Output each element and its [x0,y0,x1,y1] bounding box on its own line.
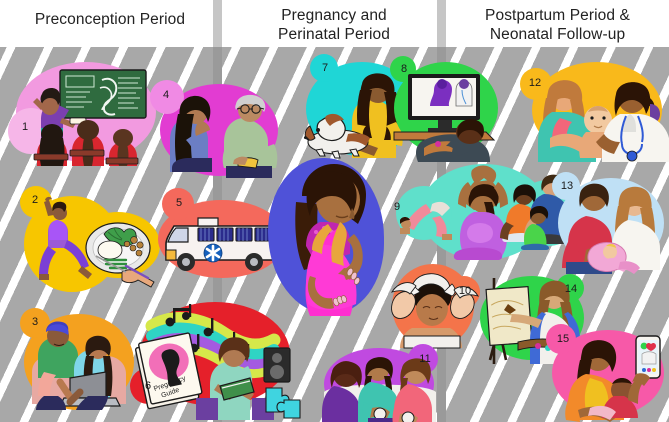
panel-13-parents-with-newborn: 13 [552,172,669,272]
panel-8-number: 8 [395,60,413,78]
panel-7-number: 7 [316,59,334,77]
panel-13-illustration [560,178,664,270]
column-title-postpartum-line-2: Neonatal Follow-up [446,25,669,44]
panel-6-illustration: Pregnancy Guide [134,300,302,420]
panel-11-number: 11 [414,350,436,368]
panel-14-number: 14 [560,280,582,298]
center-illustration [266,156,388,316]
center-pregnant-woman [258,152,394,318]
panel-12-illustration [530,68,669,162]
column-title-preconception: Preconception Period [0,10,220,29]
panel-3-couple-with-laptop: 3 [14,304,140,414]
panel-15-number: 15 [552,330,574,348]
panel-6-number: 6 [139,377,157,395]
panel-3-number: 3 [26,313,44,331]
column-title-pregnancy: Pregnancy and Perinatal Period [222,6,446,44]
column-title-pregnancy-line-2: Perinatal Period [222,25,446,44]
panel-3-illustration [26,316,134,410]
panel-2-illustration [26,196,154,294]
panel-1-illustration [22,62,158,166]
panel-1-health-education-classroom: 1 [8,56,158,166]
column-title-postpartum: Postpartum Period & Neonatal Follow-up [446,6,669,44]
panel-8-illustration [394,70,506,162]
panel-2-exercise-and-nutrition: 2 [8,182,158,294]
panel-8-telemedicine-consult: 8 [388,54,506,162]
panel-12-newborn-checkup: 12 [516,56,668,164]
column-title-pregnancy-line-1: Pregnancy and [222,6,446,25]
column-title-postpartum-line-1: Postpartum Period & [446,6,669,25]
panel-12-number: 12 [524,74,546,92]
panel-10-illustration [392,266,478,348]
panel-11-peer-support-group: 11 [322,340,446,422]
panel-5-number: 5 [170,194,188,212]
panel-13-number: 13 [556,177,578,195]
panel-4-number: 4 [157,86,175,104]
panel-2-number: 2 [26,191,44,209]
panel-1-number: 1 [16,118,34,136]
infographic-canvas: 1 [0,0,669,422]
column-title-preconception-line-1: Preconception Period [0,10,220,29]
panel-15-breastfeeding-with-mobile-app: 15 [544,320,669,422]
